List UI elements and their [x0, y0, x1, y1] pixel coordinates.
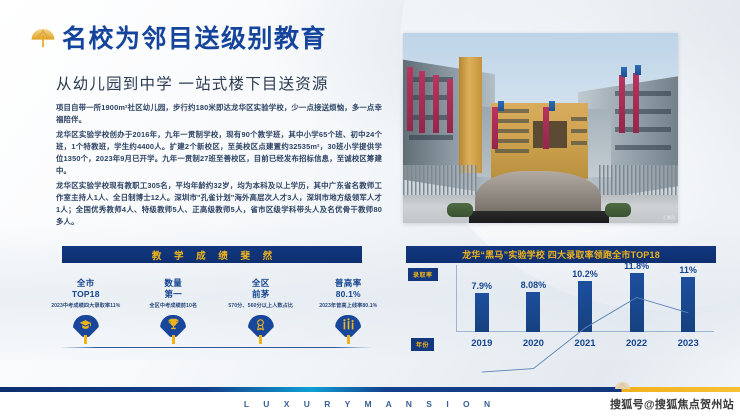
- pin-stem: [259, 335, 262, 344]
- page-title: 名校为邻目送级别教育: [62, 26, 327, 54]
- photo-hedge: [447, 203, 473, 217]
- photo-window-band: [495, 139, 529, 143]
- chart-bar: [475, 293, 489, 332]
- chart-bar: [526, 292, 540, 332]
- pin-stem: [172, 335, 175, 344]
- photo-red-banner: [433, 75, 439, 133]
- chart-bars: 7.9%8.08%10.2%11.8%11%: [456, 265, 714, 332]
- stat-value: 第一: [165, 289, 182, 300]
- stat-title: 全市: [77, 278, 95, 289]
- photo-window-band: [615, 145, 671, 150]
- school-campus-photo: 汇景园: [403, 33, 678, 223]
- stat-caption: 2023年普高上线率80.1%: [319, 302, 377, 309]
- pin-stem: [347, 335, 350, 344]
- chart-bar-item: 10.2%: [562, 265, 608, 332]
- photo-window-band: [495, 129, 529, 133]
- copy-paragraph-3: 龙华区实验学校现有教职工305名，平均年龄约32岁，均为本科及以上学历，其中广东…: [56, 180, 382, 228]
- chart-x-tick: 2023: [665, 338, 711, 349]
- photo-red-banner: [543, 107, 549, 149]
- photo-window-band: [571, 129, 587, 133]
- stats-banner-title: 教 学 成 绩 斐 然: [147, 248, 277, 262]
- chart-bar-value-label: 11%: [679, 265, 697, 275]
- photo-blue-flag: [549, 101, 555, 111]
- chart-y-axis-label: 录取率: [408, 268, 438, 281]
- photo-red-banner: [419, 71, 425, 133]
- chart-x-tick: 2020: [510, 338, 556, 349]
- photo-blue-flag: [498, 101, 504, 111]
- photo-red-banner: [633, 73, 639, 133]
- chart-bar-item: 11.8%: [613, 265, 659, 332]
- chart-bar-item: 11%: [665, 265, 711, 332]
- photo-corner-watermark: 汇景园: [663, 215, 675, 221]
- photo-blue-flag: [635, 65, 641, 75]
- photo-red-banner: [407, 67, 413, 131]
- photo-window-band: [571, 141, 587, 145]
- photo-red-banner: [492, 107, 498, 149]
- chart-title: 龙华“黑马”实验学校 四大录取率领跑全市TOP18: [462, 248, 660, 261]
- stats-banner: 教 学 成 绩 斐 然: [62, 246, 362, 263]
- stat-caption: 2023中考成绩四大录取率11%: [51, 302, 120, 309]
- chart-body: 录取率 年份 7.9%8.08%10.2%11.8%11% 2019202020…: [406, 263, 716, 354]
- chart-x-tick-labels: 20192020202120222023: [456, 334, 714, 352]
- photo-monument-plinth: [469, 211, 609, 223]
- stat-value: 80.1%: [336, 289, 361, 300]
- photo-gold-tower: [459, 57, 482, 173]
- chart-bar-value-label: 8.08%: [521, 280, 547, 290]
- stats-row: 全市 TOP18 2023中考成绩四大录取率11% 数量 第一 全区中考成绩前1…: [42, 278, 392, 356]
- chart-bar: [578, 281, 592, 332]
- admission-rate-chart: 龙华“黑马”实验学校 四大录取率领跑全市TOP18 录取率 年份 7.9%8.0…: [406, 246, 716, 354]
- medal-icon: [248, 315, 274, 337]
- photo-red-banner: [447, 79, 453, 133]
- stat-item-district: 全区 前茅 570分、560分以上人数占比: [217, 278, 305, 356]
- photo-hedge: [605, 203, 631, 217]
- chart-bar: [681, 277, 695, 332]
- shell-fan-logo-icon: [30, 26, 56, 50]
- photo-window-band: [571, 117, 587, 121]
- stat-value: 前茅: [252, 289, 269, 300]
- photo-window-band: [495, 149, 529, 153]
- chart-bar-item: 7.9%: [459, 265, 505, 332]
- stat-pin: [73, 315, 99, 345]
- graduation-cap-icon: [73, 315, 99, 337]
- chart-bar-item: 8.08%: [510, 265, 556, 332]
- chart-x-tick: 2021: [562, 338, 608, 349]
- stat-item-quantity: 数量 第一 全区中考成绩前10名: [130, 278, 218, 356]
- chart-title-bar: 龙华“黑马”实验学校 四大录取率领跑全市TOP18: [406, 246, 716, 263]
- photo-gate-fence: [599, 165, 678, 195]
- photo-window-band: [495, 119, 529, 123]
- chart-bar: [630, 273, 644, 332]
- stat-title: 全区: [252, 278, 270, 289]
- trophy-icon: [160, 315, 186, 337]
- stat-value: TOP18: [72, 289, 100, 300]
- slide-canvas: 名校为邻目送级别教育 从幼儿园到中学 一站式楼下目送资源 项目自带一所1900m…: [0, 0, 740, 416]
- chart-bar-value-label: 10.2%: [572, 269, 598, 279]
- page-subtitle: 从幼儿园到中学 一站式楼下目送资源: [56, 72, 329, 94]
- stat-caption: 570分、560分以上人数占比: [228, 302, 293, 309]
- stat-caption: 全区中考成绩前10名: [149, 302, 197, 309]
- stat-pin: [335, 315, 361, 345]
- chart-bar-value-label: 7.9%: [472, 281, 493, 291]
- chart-x-tick: 2022: [613, 338, 659, 349]
- stat-title: 数量: [164, 278, 182, 289]
- copy-paragraph-2: 龙华区实验学校创办于2016年，九年一贯制学校，现有90个教学班，其中小学65个…: [56, 129, 382, 177]
- stat-item-citywide: 全市 TOP18 2023中考成绩四大录取率11%: [42, 278, 130, 356]
- photo-blue-flag: [621, 67, 627, 77]
- bar-people-icon: [335, 315, 361, 337]
- pin-stem: [84, 335, 87, 344]
- stat-title: 普高率: [335, 278, 362, 289]
- chart-plot-area: 7.9%8.08%10.2%11.8%11%: [456, 265, 714, 332]
- stat-item-highschool-rate: 普高率 80.1% 2023年普高上线率80.1%: [305, 278, 393, 356]
- photo-window-band: [409, 135, 453, 140]
- chart-x-axis-label: 年份: [411, 338, 434, 351]
- copy-paragraph-1: 项目自带一所1900m²社区幼儿园，步行约180米即达龙华区实验学校，少一点接送…: [56, 102, 382, 126]
- stat-pin: [160, 315, 186, 345]
- photo-gate-fence: [403, 165, 477, 195]
- photo-led-screen: [533, 121, 567, 148]
- chart-bar-value-label: 11.8%: [624, 261, 649, 271]
- chart-x-tick: 2019: [459, 338, 505, 349]
- stat-pin: [248, 315, 274, 345]
- photo-red-banner: [619, 75, 625, 133]
- site-watermark: 搜狐号@搜狐焦点贺州站: [610, 396, 734, 412]
- description-copy: 项目自带一所1900m²社区幼儿园，步行约180米即达龙华区实验学校，少一点接送…: [56, 102, 382, 231]
